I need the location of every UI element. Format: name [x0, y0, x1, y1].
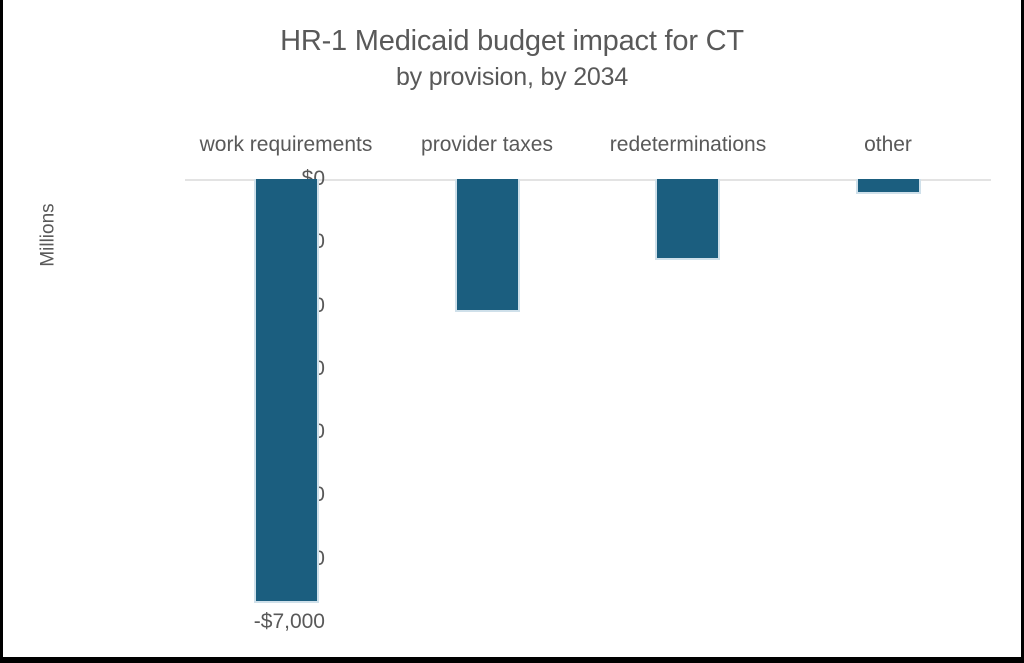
chart-screenshot: HR-1 Medicaid budget impact for CT by pr… [0, 0, 1024, 663]
x-category-label-work-requirements: work requirements [200, 133, 373, 157]
bar-other[interactable] [856, 179, 921, 194]
bar-redeterminations[interactable] [655, 179, 720, 260]
y-axis-title: Millions [35, 165, 63, 305]
bar-chart: HR-1 Medicaid budget impact for CT by pr… [3, 0, 1021, 657]
y-axis-title-label: Millions [38, 203, 60, 266]
chart-title-block: HR-1 Medicaid budget impact for CT by pr… [3, 22, 1021, 94]
chart-subtitle: by provision, by 2034 [3, 60, 1021, 94]
x-category-label-other: other [864, 133, 912, 157]
y-tick-label-7: -$7,000 [165, 610, 325, 634]
bar-provider-taxes[interactable] [455, 179, 520, 312]
plot-area: $0 -$1,000 -$2,000 -$3,000 -$4,000 -$5,0… [185, 179, 991, 622]
x-category-label-redeterminations: redeterminations [610, 133, 766, 157]
page-title: HR-1 Medicaid budget impact for CT [3, 22, 1021, 60]
x-category-label-provider-taxes: provider taxes [421, 133, 553, 157]
bar-work-requirements[interactable] [254, 179, 319, 603]
